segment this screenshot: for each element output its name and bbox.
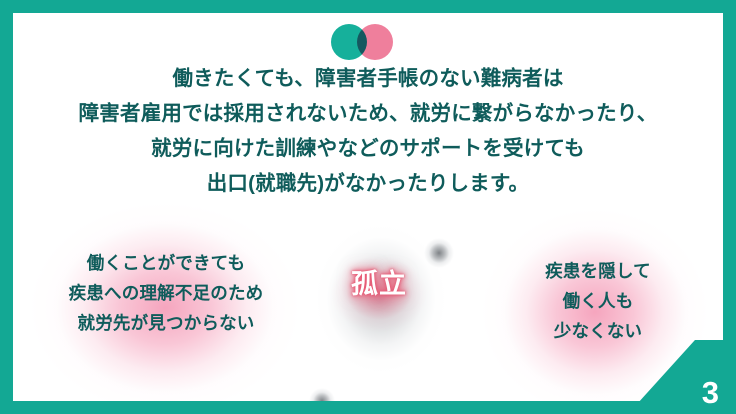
issues-diagram: 働くことができても 疾患への理解不足のため 就労先が見つからない 孤立 疾患を隠… <box>13 208 723 401</box>
decorative-dot-icon <box>424 238 454 268</box>
right-issue-line-2: 働く人も <box>503 286 693 316</box>
left-issue-bubble: 働くことができても 疾患への理解不足のため 就労先が見つからない <box>35 248 297 338</box>
headline-line-2: 障害者雇用では採用されないため、就労に繋がらなかったり、 <box>13 96 723 131</box>
headline-line-4: 出口(就職先)がなかったりします。 <box>13 166 723 201</box>
left-issue-line-3: 就労先が見つからない <box>35 308 297 338</box>
slide-canvas: 働きたくても、障害者手帳のない難病者は 障害者雇用では採用されないため、就労に繋… <box>13 13 723 401</box>
right-issue-line-3: 少なくない <box>503 316 693 346</box>
headline-block: 働きたくても、障害者手帳のない難病者は 障害者雇用では採用されないため、就労に繋… <box>13 61 723 201</box>
slide-frame: 働きたくても、障害者手帳のない難病者は 障害者雇用では採用されないため、就労に繋… <box>0 0 736 414</box>
headline-line-1: 働きたくても、障害者手帳のない難病者は <box>13 61 723 96</box>
right-issue-line-1: 疾患を隠して <box>503 256 693 286</box>
headline-line-3: 就労に向けた訓練やなどのサポートを受けても <box>13 131 723 166</box>
left-issue-line-1: 働くことができても <box>35 248 297 278</box>
isolation-label: 孤立 <box>331 262 427 301</box>
left-issue-line-2: 疾患への理解不足のため <box>35 278 297 308</box>
page-number: 3 <box>702 377 719 408</box>
logo-right-circle-icon <box>357 24 393 60</box>
right-issue-bubble: 疾患を隠して 働く人も 少なくない <box>503 256 693 346</box>
brand-logo-icon <box>331 24 405 60</box>
decorative-dot-icon <box>309 388 335 401</box>
